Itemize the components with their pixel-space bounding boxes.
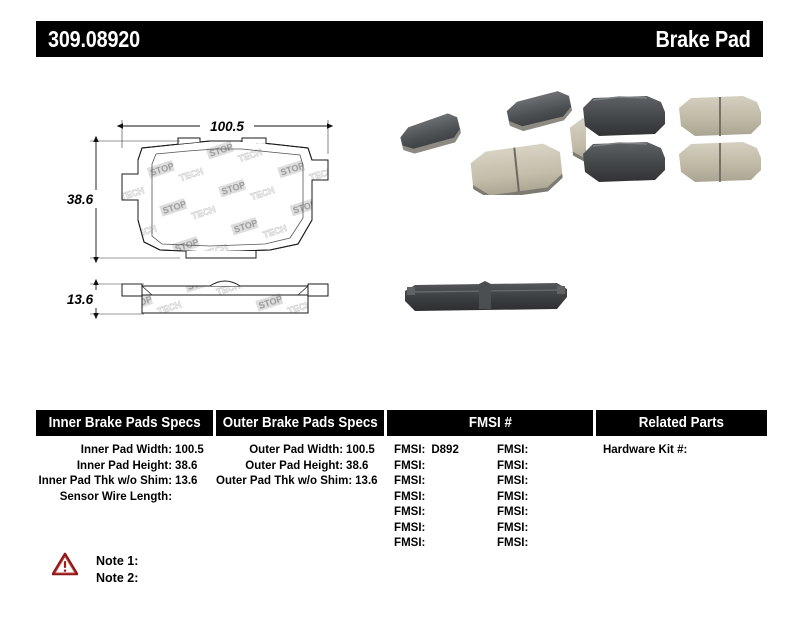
column-header-outer-specs-label: Outer Brake Pads Specs [223,415,378,431]
product-photographs [396,85,771,350]
pad-side-view [122,278,330,328]
fmsi-label: FMSI: [394,506,425,518]
fmsi-label: FMSI: [497,522,528,534]
inner-specs-column: Inner Pad Width: 100.5 Inner Pad Height:… [36,443,213,552]
fmsi-subcolumn-left: FMSI:D892 FMSI: FMSI: FMSI: FMSI: FMSI: [387,443,490,552]
fmsi-label: FMSI: [497,506,528,518]
note-2: Note 2: [96,570,138,587]
spec-row: Outer Pad Height: 38.6 [216,459,384,475]
fmsi-row: FMSI: [490,474,593,490]
fmsi-label: FMSI: [394,491,425,503]
specifications-table: Inner Brake Pads Specs Outer Brake Pads … [36,410,767,552]
fmsi-row: FMSI: [387,521,490,537]
spec-value: 13.6 [175,474,213,490]
spec-row: Inner Pad Width: 100.5 [36,443,213,459]
column-header-inner-specs: Inner Brake Pads Specs [36,410,213,436]
fmsi-row: FMSI: [387,505,490,521]
spec-value [175,490,213,506]
fmsi-value [425,491,431,503]
fmsi-row: FMSI: [387,536,490,552]
fmsi-row: FMSI: [490,505,593,521]
column-header-related-parts-label: Related Parts [639,415,724,431]
fmsi-row: FMSI: [387,459,490,475]
fmsi-label: FMSI: [394,537,425,549]
fmsi-row: FMSI:D892 [387,443,490,459]
spec-row: Outer Pad Thk w/o Shim: 13.6 [216,474,384,490]
column-header-outer-specs: Outer Brake Pads Specs [216,410,384,436]
fmsi-row: FMSI: [490,536,593,552]
column-header-fmsi: FMSI # [387,410,593,436]
fmsi-label: FMSI: [394,522,425,534]
pad-face-view [110,133,350,263]
warning-triangle-icon [52,552,78,576]
spec-label: Sensor Wire Length: [36,490,175,506]
spec-label: Inner Pad Thk w/o Shim: [36,474,175,490]
spec-value: 100.5 [175,443,213,459]
fmsi-value [528,522,534,534]
spec-row: Outer Pad Width: 100.5 [216,443,384,459]
spec-value: 38.6 [346,459,384,475]
spec-label: Inner Pad Width: [36,443,175,459]
fmsi-column: FMSI:D892 FMSI: FMSI: FMSI: FMSI: FMSI: [387,443,593,552]
fmsi-value [425,475,431,487]
spec-label: Outer Pad Width: [216,443,346,459]
related-parts-column: Hardware Kit #: [596,443,767,552]
note-lines: Note 1: Note 2: [96,552,138,587]
outer-specs-column: Outer Pad Width: 100.5 Outer Pad Height:… [216,443,384,552]
fmsi-value [425,522,431,534]
fmsi-value [528,460,534,472]
fmsi-row: FMSI: [490,443,593,459]
product-type-title: Brake Pad [656,26,751,53]
pad-edge-photo [401,275,571,330]
fmsi-label: FMSI: [497,475,528,487]
fmsi-label: FMSI: [394,444,425,456]
fmsi-label: FMSI: [497,444,528,456]
fmsi-value [528,506,534,518]
column-header-related-parts: Related Parts [596,410,767,436]
document-header-bar: 309.08920 Brake Pad [36,21,763,57]
fmsi-row: FMSI: [387,474,490,490]
part-number: 309.08920 [48,26,140,53]
spec-value: 38.6 [175,459,213,475]
pads-angled-photo [396,85,586,195]
spec-value: 100.5 [346,443,384,459]
spec-row: Inner Pad Height: 38.6 [36,459,213,475]
related-part-row: Hardware Kit #: [596,443,767,459]
related-part-label: Hardware Kit #: [603,444,687,456]
column-header-inner-specs-label: Inner Brake Pads Specs [49,415,201,431]
fmsi-value [425,460,431,472]
dimension-height-label: 38.6 [67,192,94,207]
fmsi-label: FMSI: [497,491,528,503]
fmsi-row: FMSI: [490,521,593,537]
spec-label: Inner Pad Height: [36,459,175,475]
note-1: Note 1: [96,553,138,570]
fmsi-value [528,444,534,456]
spec-row: Inner Pad Thk w/o Shim: 13.6 [36,474,213,490]
fmsi-row: FMSI: [490,459,593,475]
fmsi-row: FMSI: [387,490,490,506]
fmsi-subcolumn-right: FMSI: FMSI: FMSI: FMSI: FMSI: FMSI: [490,443,593,552]
table-header-row: Inner Brake Pads Specs Outer Brake Pads … [36,410,767,436]
fmsi-row: FMSI: [490,490,593,506]
fmsi-value [528,475,534,487]
dimension-width-label: 100.5 [210,119,244,134]
spec-label: Outer Pad Height: [216,459,346,475]
technical-drawing: STOP TECH [60,108,390,348]
fmsi-value [425,537,431,549]
fmsi-label: FMSI: [497,537,528,549]
fmsi-value: D892 [425,444,459,456]
pads-flat-photo [579,90,769,190]
fmsi-value [528,491,534,503]
notes-section: Note 1: Note 2: [52,552,138,587]
dimension-thickness-label: 13.6 [67,292,94,307]
table-body: Inner Pad Width: 100.5 Inner Pad Height:… [36,436,767,552]
fmsi-value [425,506,431,518]
fmsi-label: FMSI: [394,460,425,472]
spec-label: Outer Pad Thk w/o Shim: [216,474,355,490]
fmsi-value [528,537,534,549]
fmsi-label: FMSI: [394,475,425,487]
fmsi-label: FMSI: [497,460,528,472]
column-header-fmsi-label: FMSI # [468,415,511,431]
spec-row: Sensor Wire Length: [36,490,213,506]
